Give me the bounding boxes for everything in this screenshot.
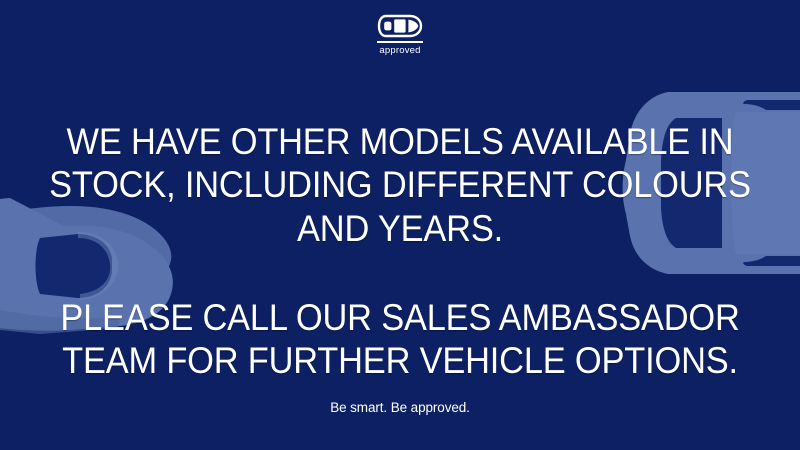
- headline-primary: WE HAVE OTHER MODELS AVAILABLE IN STOCK,…: [28, 120, 772, 250]
- promo-banner: approved WE HAVE OTHER MODELS AVAILABLE …: [0, 0, 800, 450]
- brand-wordmark: approved: [379, 46, 420, 56]
- headline-secondary: PLEASE CALL OUR SALES AMBASSADOR TEAM FO…: [28, 296, 772, 383]
- brand-lockup: approved: [0, 14, 800, 56]
- brand-tagline: Be smart. Be approved.: [0, 400, 800, 415]
- car-top-view-icon: [377, 14, 423, 38]
- brand-divider: [377, 41, 423, 43]
- headline-secondary-block: PLEASE CALL OUR SALES AMBASSADOR TEAM FO…: [0, 296, 800, 383]
- headline-primary-block: WE HAVE OTHER MODELS AVAILABLE IN STOCK,…: [0, 120, 800, 250]
